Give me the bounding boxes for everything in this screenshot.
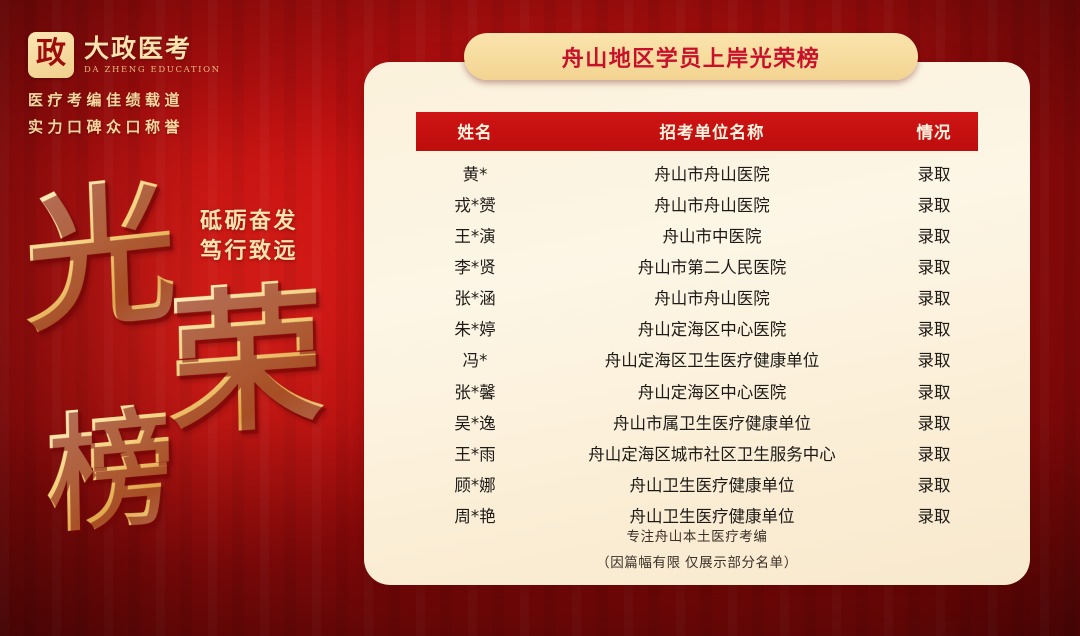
brand-name-cn: 大政医考 bbox=[84, 36, 221, 62]
brand-mark-icon: 政 bbox=[28, 32, 74, 78]
brand-slogan-line-2: 实力口碑众口称誉 bbox=[28, 116, 228, 137]
cell-status: 录取 bbox=[890, 151, 978, 190]
brand-name-en: DA ZHENG EDUCATION bbox=[84, 65, 221, 75]
table-body: 黄*舟山市舟山医院录取戎*赟舟山市舟山医院录取王*演舟山市中医院录取李*贤舟山市… bbox=[416, 151, 978, 532]
brand-slogan-line-1: 医疗考编佳绩载道 bbox=[28, 89, 228, 110]
cell-unit: 舟山定海区中心医院 bbox=[534, 377, 890, 408]
table-row: 张*涵舟山市舟山医院录取 bbox=[416, 283, 978, 314]
cell-unit: 舟山市舟山医院 bbox=[534, 151, 890, 190]
table-row: 戎*赟舟山市舟山医院录取 bbox=[416, 190, 978, 221]
cell-status: 录取 bbox=[890, 252, 978, 283]
cell-name: 朱*婷 bbox=[416, 314, 534, 345]
cell-status: 录取 bbox=[890, 190, 978, 221]
table-header-row: 姓名 招考单位名称 情况 bbox=[416, 112, 978, 151]
cell-name: 王*雨 bbox=[416, 439, 534, 470]
table-row: 李*贤舟山市第二人民医院录取 bbox=[416, 252, 978, 283]
cell-unit: 舟山市第二人民医院 bbox=[534, 252, 890, 283]
cell-name: 戎*赟 bbox=[416, 190, 534, 221]
logo-row: 政 大政医考 DA ZHENG EDUCATION bbox=[28, 32, 228, 78]
cell-name: 王*演 bbox=[416, 221, 534, 252]
table-row: 朱*婷舟山定海区中心医院录取 bbox=[416, 314, 978, 345]
calligraphy-char-1: 光 bbox=[22, 173, 178, 341]
poster-canvas: 政 大政医考 DA ZHENG EDUCATION 医疗考编佳绩载道 实力口碑众… bbox=[0, 0, 1080, 636]
calligraphy-char-2: 荣 bbox=[167, 277, 325, 444]
cell-unit: 舟山市舟山医院 bbox=[534, 283, 890, 314]
table-row: 王*雨舟山定海区城市社区卫生服务中心录取 bbox=[416, 439, 978, 470]
honor-roll-table-wrap: 姓名 招考单位名称 情况 黄*舟山市舟山医院录取戎*赟舟山市舟山医院录取王*演舟… bbox=[416, 112, 978, 532]
table-row: 王*演舟山市中医院录取 bbox=[416, 221, 978, 252]
page-title: 舟山地区学员上岸光荣榜 bbox=[562, 41, 821, 73]
cell-status: 录取 bbox=[890, 439, 978, 470]
cell-status: 录取 bbox=[890, 221, 978, 252]
cell-status: 录取 bbox=[890, 345, 978, 376]
table-header: 姓名 招考单位名称 情况 bbox=[416, 112, 978, 151]
cell-status: 录取 bbox=[890, 377, 978, 408]
card-title-banner: 舟山地区学员上岸光荣榜 bbox=[464, 33, 918, 80]
motto-line-1: 砥砺奋发 bbox=[200, 206, 298, 236]
column-header-status: 情况 bbox=[890, 112, 978, 151]
cell-name: 张*馨 bbox=[416, 377, 534, 408]
brand-text: 大政医考 DA ZHENG EDUCATION bbox=[84, 35, 221, 75]
footer-line-1: 专注舟山本土医疗考编 bbox=[364, 524, 1030, 550]
cell-unit: 舟山市属卫生医疗健康单位 bbox=[534, 408, 890, 439]
cell-status: 录取 bbox=[890, 314, 978, 345]
cell-name: 李*贤 bbox=[416, 252, 534, 283]
cell-name: 顾*娜 bbox=[416, 470, 534, 501]
honor-roll-table: 姓名 招考单位名称 情况 黄*舟山市舟山医院录取戎*赟舟山市舟山医院录取王*演舟… bbox=[416, 112, 978, 532]
cell-unit: 舟山定海区卫生医疗健康单位 bbox=[534, 345, 890, 376]
footer-line-2: （因篇幅有限 仅展示部分名单） bbox=[364, 550, 1030, 576]
cell-unit: 舟山定海区中心医院 bbox=[534, 314, 890, 345]
calligraphy-char-3: 榜 bbox=[45, 401, 175, 540]
cell-status: 录取 bbox=[890, 408, 978, 439]
column-header-name: 姓名 bbox=[416, 112, 534, 151]
cell-unit: 舟山市舟山医院 bbox=[534, 190, 890, 221]
column-header-unit: 招考单位名称 bbox=[534, 112, 890, 151]
cell-name: 张*涵 bbox=[416, 283, 534, 314]
cell-name: 吴*逸 bbox=[416, 408, 534, 439]
table-row: 冯*舟山定海区卫生医疗健康单位录取 bbox=[416, 345, 978, 376]
table-row: 张*馨舟山定海区中心医院录取 bbox=[416, 377, 978, 408]
cell-name: 黄* bbox=[416, 151, 534, 190]
cell-unit: 舟山定海区城市社区卫生服务中心 bbox=[534, 439, 890, 470]
cell-name: 冯* bbox=[416, 345, 534, 376]
table-row: 顾*娜舟山卫生医疗健康单位录取 bbox=[416, 470, 978, 501]
cell-status: 录取 bbox=[890, 283, 978, 314]
cell-unit: 舟山卫生医疗健康单位 bbox=[534, 470, 890, 501]
motto-block: 砥砺奋发 笃行致远 bbox=[200, 206, 298, 267]
table-row: 黄*舟山市舟山医院录取 bbox=[416, 151, 978, 190]
motto-line-2: 笃行致远 bbox=[200, 236, 298, 266]
brand-logo-block: 政 大政医考 DA ZHENG EDUCATION 医疗考编佳绩载道 实力口碑众… bbox=[28, 32, 228, 137]
card-footer: 专注舟山本土医疗考编 （因篇幅有限 仅展示部分名单） bbox=[364, 524, 1030, 577]
brand-mark-glyph: 政 bbox=[36, 39, 66, 69]
table-row: 吴*逸舟山市属卫生医疗健康单位录取 bbox=[416, 408, 978, 439]
cell-status: 录取 bbox=[890, 470, 978, 501]
cell-unit: 舟山市中医院 bbox=[534, 221, 890, 252]
